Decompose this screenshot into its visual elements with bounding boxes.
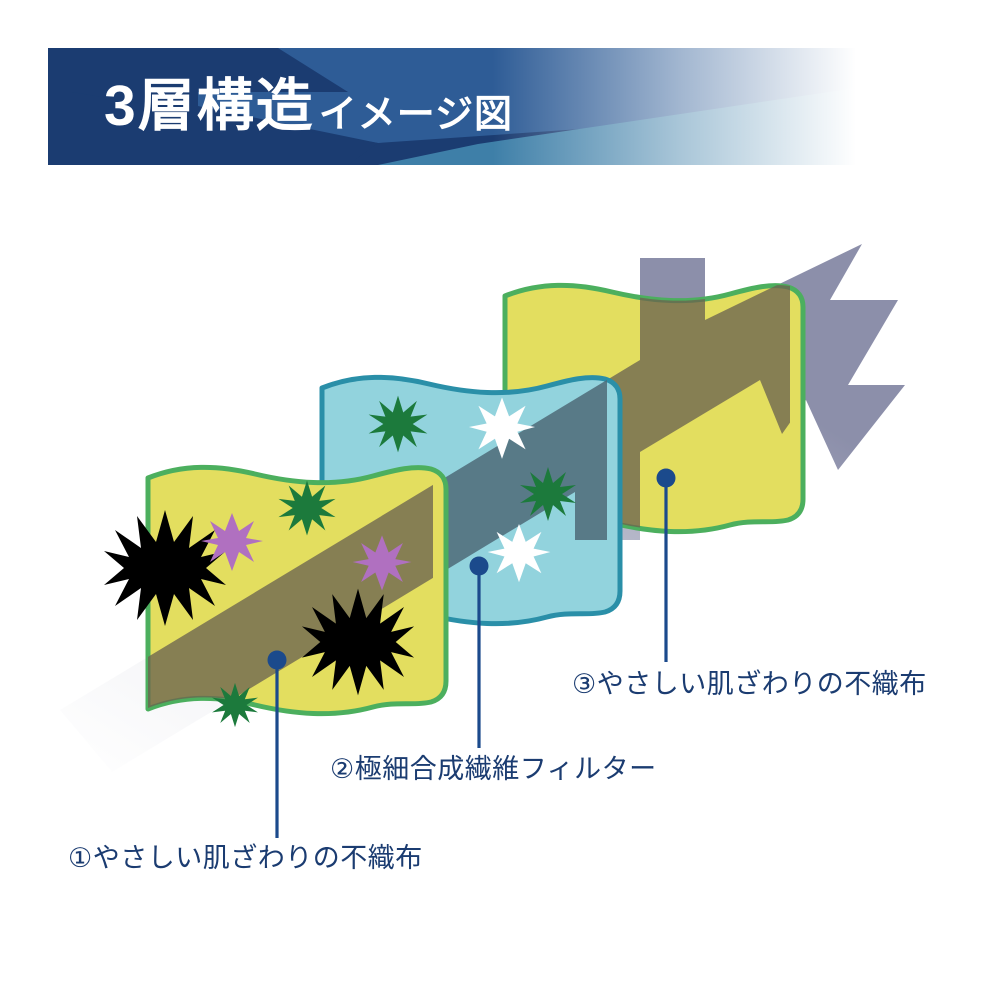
leader-dot	[657, 469, 676, 488]
diagram-page: 3層構造 イメージ図	[0, 0, 1000, 1000]
callout-label-2: ②極細合成繊維フィルター	[330, 747, 657, 786]
callout-label-3: ③やさしい肌ざわりの不織布	[572, 662, 927, 701]
callout-label-1: ①やさしい肌ざわりの不織布	[68, 836, 423, 875]
leader-dot	[470, 557, 489, 576]
leader-dot	[268, 651, 287, 670]
